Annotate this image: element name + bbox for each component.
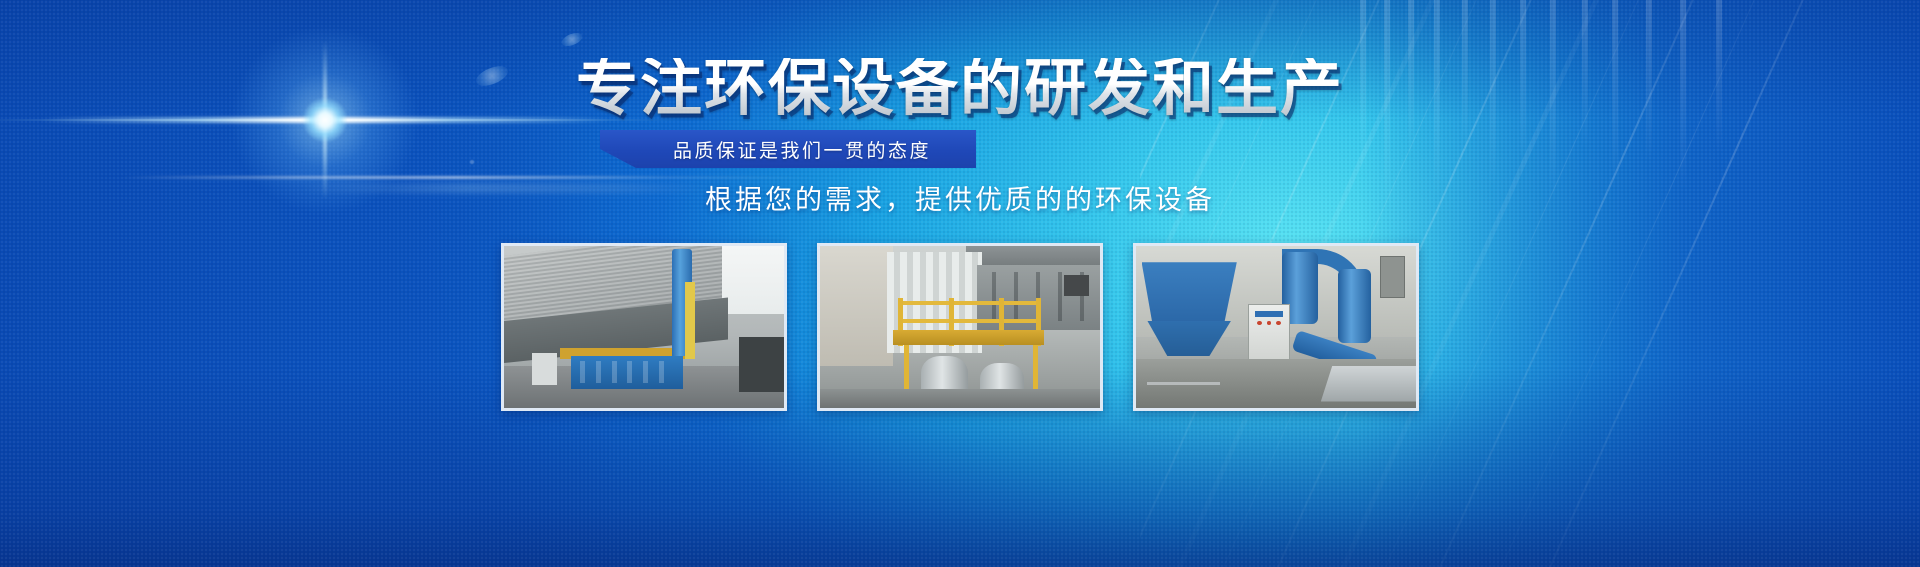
hero-banner: 专注环保设备的研发和生产 品质保证是我们一贯的态度 根据您的需求，提供优质的的环… [0, 0, 1920, 567]
banner-headline: 专注环保设备的研发和生产 [0, 58, 1920, 120]
photo-strip [0, 243, 1920, 413]
banner-subline: 根据您的需求，提供优质的的环保设备 [0, 178, 1920, 217]
spark-dot [470, 160, 474, 164]
photo-platform-equipment [817, 243, 1103, 411]
slogan-ribbon: 品质保证是我们一贯的态度 [600, 130, 976, 168]
slogan-ribbon-text: 品质保证是我们一贯的态度 [645, 136, 931, 163]
photo-cyclone-cabinet [1133, 243, 1419, 411]
photo-factory-building [501, 243, 787, 411]
